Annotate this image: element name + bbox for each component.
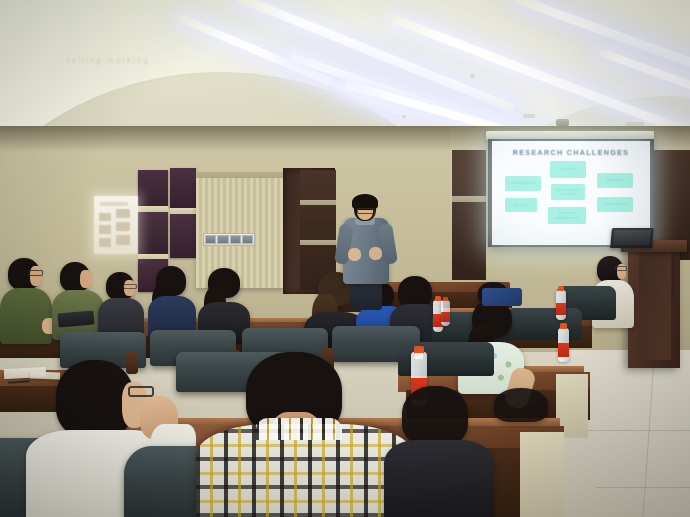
wall-proj-node-1 [99, 213, 111, 221]
lectern-front-panel [639, 252, 671, 360]
laptop-screen [613, 230, 650, 245]
chair-row-b-2[interactable] [506, 308, 582, 340]
lectern-cable [672, 252, 674, 298]
ceiling-dot-2 [402, 115, 406, 118]
lecture-hall-photo: ceiling-marking [0, 0, 690, 517]
bottle-neck [415, 353, 423, 359]
attendee-foreground-right-head [402, 386, 468, 446]
wall-band-left-2 [138, 254, 168, 259]
attendee-foreground-right-body [384, 440, 494, 517]
slide-node-left-upper: Heterogeneity [505, 176, 541, 191]
papers-on-desk-2[interactable] [30, 371, 60, 379]
attendee-dark-top-glasses [123, 284, 137, 289]
bottle-cap [558, 286, 564, 291]
attendee-plaid-shirt-collar [256, 418, 342, 440]
wall-panel-left-1 [138, 170, 168, 206]
slide-node-center: Key Research Problems [551, 184, 585, 200]
attendee-aisle-head [494, 388, 548, 422]
slide-node-right-upper: Reliability [597, 173, 633, 188]
slide-node-bottom: Resource Management [548, 207, 586, 224]
bottle-label [556, 303, 566, 315]
ceiling-vent [626, 122, 644, 126]
wall-proj-title [100, 202, 128, 206]
wall-panel-left-2 [138, 212, 168, 254]
wall-band-right-2 [300, 240, 336, 245]
attendee-olive-shirt-body [0, 288, 52, 344]
bottle-cap [443, 297, 448, 301]
presenter-legs [349, 282, 382, 310]
slide-node-top: Scalability [550, 161, 586, 178]
presenter-right-hand [369, 247, 382, 260]
wall-band-left-3 [170, 208, 196, 214]
floor-tile-line-2 [596, 487, 690, 488]
presenter-left-hand [348, 248, 361, 261]
light-switch-1[interactable] [205, 235, 216, 244]
ceiling-projector [556, 119, 569, 126]
secondary-wall-projection [94, 196, 138, 254]
bottle-label [558, 343, 569, 357]
light-switch-2[interactable] [217, 235, 228, 244]
attendee-camo-face [80, 270, 92, 288]
wall-panel-left-4 [170, 168, 196, 208]
water-bottle-right[interactable] [558, 328, 569, 362]
ceiling-marking: ceiling-marking [66, 56, 174, 88]
bottle-label [441, 312, 450, 322]
ceiling-dot-3 [523, 114, 535, 118]
attendee-white-shirt-front-glasses [128, 386, 154, 397]
wall-proj-node-3 [99, 225, 111, 234]
attendee-olive-shirt-glasses [28, 270, 43, 276]
light-switch-4[interactable] [242, 235, 253, 244]
slide-node-left-lower: Security [505, 198, 537, 212]
chair-arm-1 [126, 352, 138, 374]
attendee-white-shirt-podium-glasses [615, 266, 627, 271]
presenter-glasses [357, 208, 375, 214]
light-switch-3[interactable] [230, 235, 241, 244]
wall-panel-left-5 [170, 214, 196, 258]
wall-proj-node-4 [116, 222, 130, 231]
water-bottle-far-left[interactable] [441, 300, 450, 326]
desk-front-side-panel [520, 432, 564, 517]
attendee-olive-shirt-face [30, 266, 42, 286]
ceiling-dot-1 [470, 74, 475, 78]
floor-tile-line-1 [578, 430, 690, 431]
slide-diagram: Scalability Heterogeneity Key Research P… [498, 159, 644, 233]
wall-band-right-1 [300, 200, 336, 205]
bottle-cap [560, 323, 567, 329]
wall-band-left-1 [138, 206, 168, 212]
wall-switch-plate[interactable] [203, 233, 255, 246]
wall-band-far-right [452, 196, 486, 202]
wall-proj-node-6 [116, 235, 130, 245]
wall-proj-node-2 [116, 209, 130, 218]
slide-node-right-lower: Performance [597, 197, 633, 212]
wall-panel-far-right [452, 150, 486, 280]
blue-bag[interactable] [482, 288, 522, 306]
water-bottle-center[interactable] [556, 290, 566, 320]
wall-proj-node-5 [99, 238, 111, 247]
slide-title: RESEARCH CHALLENGES [498, 148, 644, 157]
